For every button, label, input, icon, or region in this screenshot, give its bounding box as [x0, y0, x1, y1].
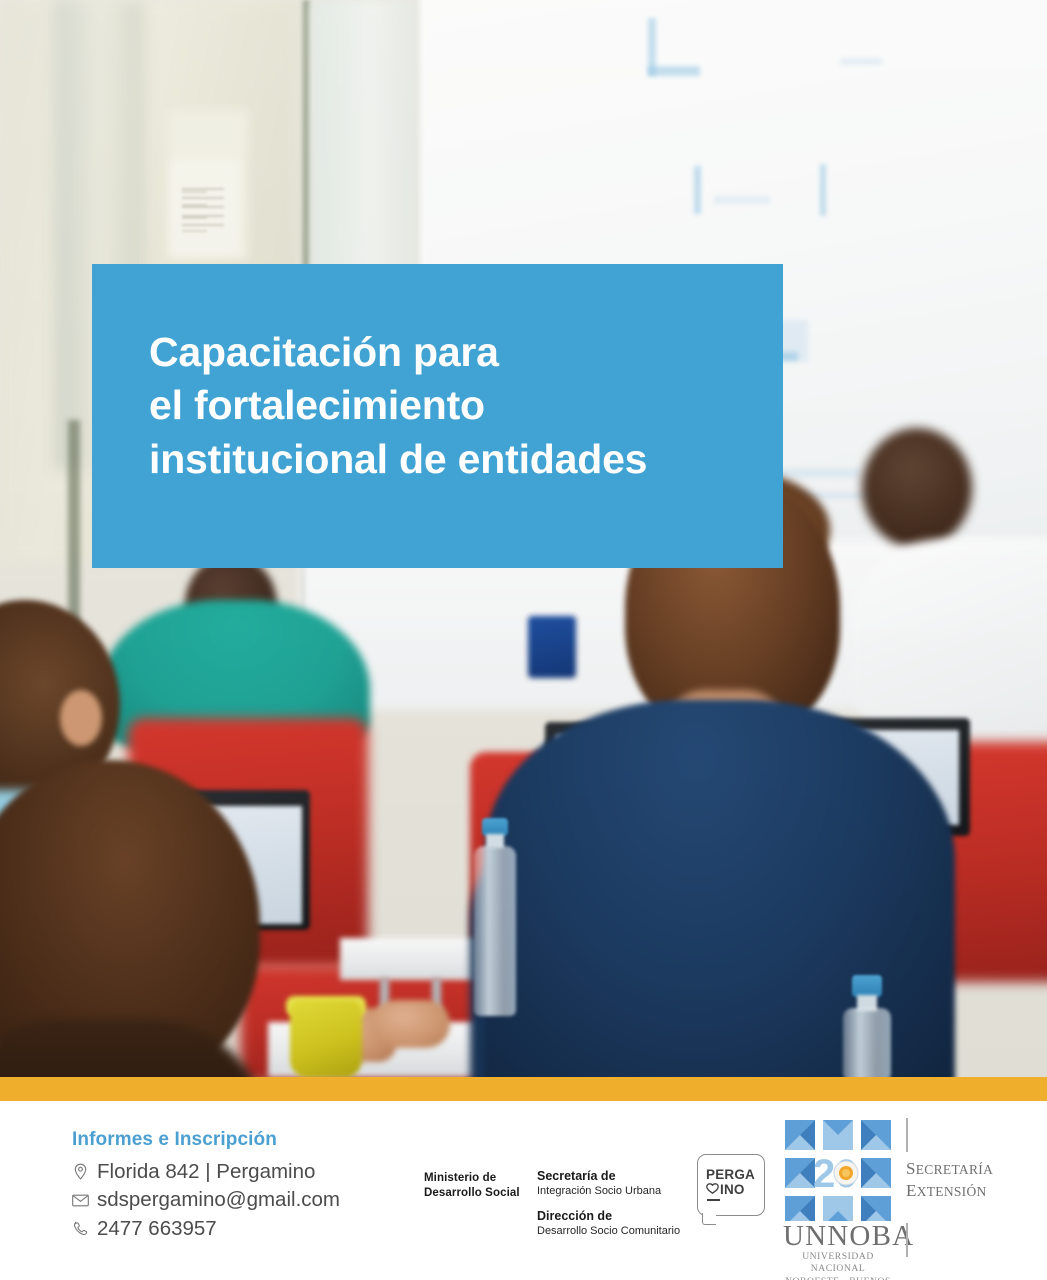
- photo-hand: [372, 1000, 450, 1048]
- contact-phone-text: 2477 663957: [97, 1215, 217, 1242]
- extension-divider-top: [906, 1118, 908, 1152]
- secretaria-light-2: Desarrollo Socio Comunitario: [537, 1224, 680, 1239]
- pergamino-line-2-text: INO: [720, 1182, 745, 1197]
- page-title: Capacitación para el fortalecimiento ins…: [149, 326, 769, 486]
- contact-block: Informes e Inscripción Florida 842 | Per…: [72, 1129, 402, 1243]
- photo-slide-mark: [648, 66, 700, 76]
- photo-wall-paper-lines: [182, 188, 224, 232]
- photo-person-back-right-head: [862, 428, 972, 548]
- photo-blue-cup: [528, 616, 576, 678]
- photo-slide-mark: [820, 164, 826, 216]
- secretaria-strong-1: Secretaría de: [537, 1168, 680, 1184]
- pergamino-line-2: INO: [706, 1182, 755, 1197]
- unnoba-subtitle-1: UNIVERSIDAD NACIONAL: [783, 1251, 893, 1276]
- photo-bottle: [474, 846, 516, 1016]
- secretaria-strong-2: Dirección de: [537, 1208, 680, 1224]
- extension-block: SECRETARÍA EXTENSIÓN: [906, 1158, 993, 1202]
- photo-bottle: [843, 1008, 891, 1077]
- photo-door-jamb: [68, 420, 80, 640]
- ministry-block: Ministerio de Desarrollo Social: [424, 1171, 520, 1202]
- page-title-line-3: institucional de entidades: [149, 433, 769, 486]
- page-title-line-1: Capacitación para: [149, 326, 769, 379]
- heart-icon: [706, 1182, 719, 1197]
- photo-person-left-ear: [60, 690, 102, 746]
- unnoba-emblem-icon: 20: [783, 1118, 893, 1221]
- contact-heading: Informes e Inscripción: [72, 1129, 402, 1151]
- pergamino-underline: [707, 1199, 720, 1201]
- unnoba-logo: 20 UNNOBA UNIVERSIDAD NACIONAL NOROESTE …: [783, 1118, 893, 1270]
- photo-bottle-cap: [852, 975, 882, 997]
- secretaria-block: Secretaría de Integración Socio Urbana D…: [537, 1168, 680, 1238]
- page-title-line-2: el fortalecimiento: [149, 379, 769, 432]
- ministry-line-2: Desarrollo Social: [424, 1186, 520, 1201]
- title-banner: Capacitación para el fortalecimiento ins…: [92, 264, 783, 568]
- extension-line-2: EXTENSIÓN: [906, 1180, 993, 1202]
- speech-bubble-tail-icon: [702, 1213, 716, 1225]
- extension-line-2-initial: E: [906, 1181, 917, 1200]
- extension-line-1-initial: S: [906, 1159, 916, 1178]
- envelope-icon: [72, 1192, 89, 1209]
- contact-row-address: Florida 842 | Pergamino: [72, 1158, 402, 1185]
- contact-row-email: sdspergamino@gmail.com: [72, 1186, 402, 1213]
- pergamino-wordmark: PERGA INO: [706, 1167, 755, 1197]
- extension-line-1-rest: ECRETARÍA: [916, 1162, 993, 1177]
- unnoba-wordmark: UNNOBA: [783, 1222, 893, 1251]
- photo-slide-mark: [840, 58, 882, 65]
- footer: Informes e Inscripción Florida 842 | Per…: [0, 1101, 1047, 1280]
- photo-person-back-right-body: [850, 540, 1047, 740]
- phone-icon: [72, 1220, 89, 1237]
- unnoba-subtitle-2: NOROESTE · BUENOS AIRES: [783, 1276, 893, 1280]
- secretaria-group-1: Secretaría de Integración Socio Urbana: [537, 1168, 680, 1199]
- extension-line-1: SECRETARÍA: [906, 1158, 993, 1180]
- secretaria-light-1: Integración Socio Urbana: [537, 1184, 680, 1199]
- contact-row-phone: 2477 663957: [72, 1215, 402, 1242]
- extension-divider-bottom: [906, 1223, 908, 1257]
- contact-address-text: Florida 842 | Pergamino: [97, 1158, 315, 1185]
- ministry-line-1: Ministerio de: [424, 1171, 520, 1186]
- photo-slide-mark: [694, 166, 701, 214]
- contact-email-text: sdspergamino@gmail.com: [97, 1186, 340, 1213]
- photo-slide-mark: [714, 196, 770, 204]
- extension-line-2-rest: XTENSIÓN: [917, 1184, 987, 1199]
- location-pin-icon: [72, 1163, 89, 1180]
- pergamino-logo: PERGA INO: [697, 1154, 765, 1216]
- photo-cup: [290, 1000, 362, 1077]
- gold-divider-bar: [0, 1077, 1047, 1101]
- secretaria-group-2: Dirección de Desarrollo Socio Comunitari…: [537, 1208, 680, 1239]
- poster-root: Capacitación para el fortalecimiento ins…: [0, 0, 1047, 1280]
- pergamino-line-1: PERGA: [706, 1167, 755, 1182]
